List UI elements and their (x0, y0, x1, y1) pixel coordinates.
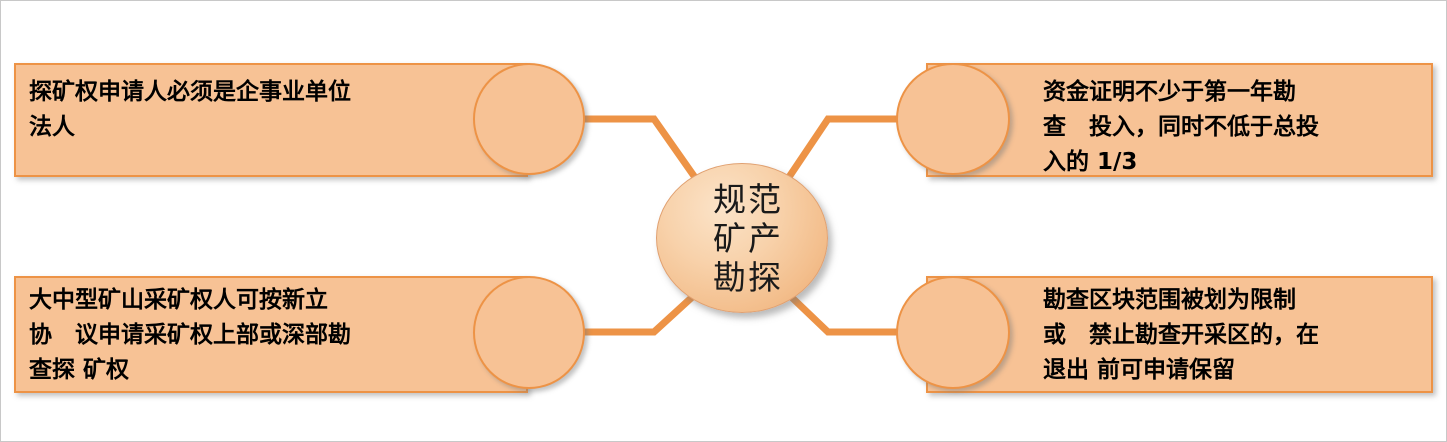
node-circle-top-left[interactable] (473, 63, 585, 175)
diagram-slide: 探矿权申请人必须是企事业单位 法人 大中型矿山采矿权人可按新立 协 议申请采矿权… (0, 0, 1447, 442)
connector-bottom-right (783, 289, 898, 332)
node-label-top-right: 资金证明不少于第一年勘 查 投入，同时不低于总投 入的 1/3 (1043, 75, 1443, 180)
connector-top-left (584, 119, 701, 186)
node-label-top-left: 探矿权申请人必须是企事业单位 法人 (29, 75, 489, 145)
node-label-bottom-right: 勘查区块范围被划为限制 或 禁止勘查开采区的，在 退出 前可申请保留 (1043, 283, 1443, 388)
center-circle-label: 规范 矿产 勘探 (713, 180, 783, 297)
node-circle-bottom-right[interactable] (896, 276, 1010, 389)
center-circle[interactable]: 规范 矿产 勘探 (656, 163, 828, 313)
node-circle-top-right[interactable] (896, 63, 1010, 175)
connector-top-right (783, 119, 898, 186)
node-circle-bottom-left[interactable] (473, 276, 585, 389)
node-label-bottom-left: 大中型矿山采矿权人可按新立 协 议申请采矿权上部或深部勘 查探 矿权 (29, 283, 489, 388)
connector-bottom-left (584, 289, 701, 332)
